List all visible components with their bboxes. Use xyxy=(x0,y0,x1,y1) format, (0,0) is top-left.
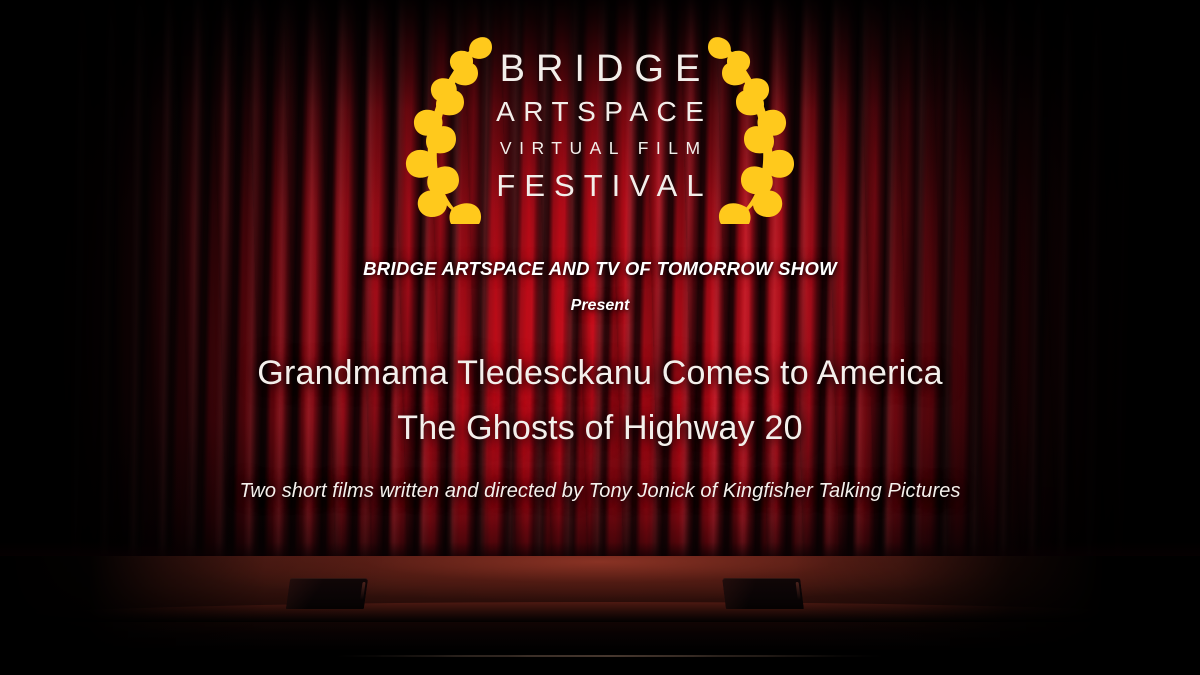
stage-floor-vignette xyxy=(0,556,1200,675)
film-title-secondary: The Ghosts of Highway 20 xyxy=(0,409,1200,448)
festival-logo: BRIDGE ARTSPACE VIRTUAL FILM FESTIVAL xyxy=(0,34,1200,224)
festival-title-slide: BRIDGE ARTSPACE VIRTUAL FILM FESTIVAL BR… xyxy=(0,0,1200,675)
logo-wordmark-virtual-film: VIRTUAL FILM xyxy=(0,138,1200,159)
monitor-face-right xyxy=(722,579,804,609)
director-credit-line: Two short films written and directed by … xyxy=(0,480,1200,503)
present-label: Present xyxy=(0,297,1200,315)
presenting-organizations: BRIDGE ARTSPACE AND TV OF TOMORROW SHOW xyxy=(0,258,1200,280)
stage-floor xyxy=(0,556,1200,675)
monitor-face-left xyxy=(286,579,368,609)
stage-monitor-wedge-left xyxy=(286,578,368,609)
stage-monitor-wedge-right xyxy=(722,578,804,609)
logo-wordmark-bridge: BRIDGE xyxy=(0,48,1200,91)
logo-wordmark-artspace: ARTSPACE xyxy=(0,96,1200,128)
film-title-primary: Grandmama Tledesckanu Comes to America xyxy=(0,354,1200,393)
logo-wordmark-festival: FESTIVAL xyxy=(0,168,1200,204)
